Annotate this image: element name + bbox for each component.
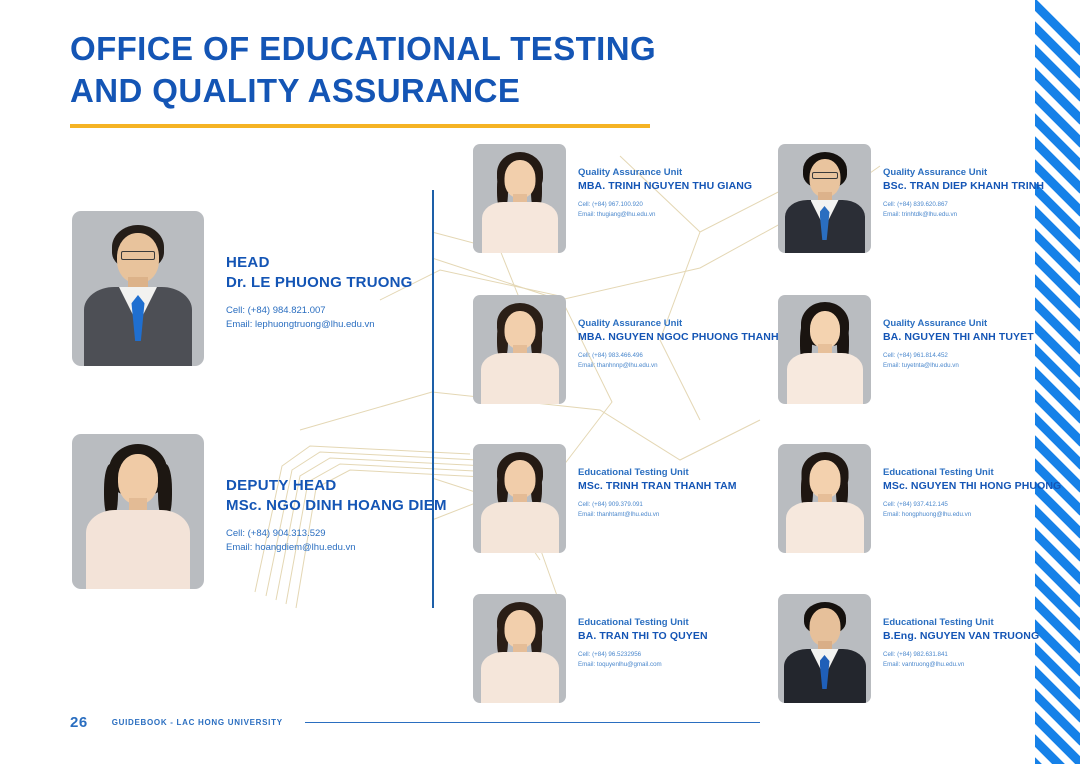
page-title-line-1: OFFICE OF EDUCATIONAL TESTING — [70, 28, 710, 70]
leader-role-deputy-head: DEPUTY HEAD — [226, 476, 447, 496]
staff-email[interactable]: Email: toquyenlhu@gmail.com — [578, 660, 708, 670]
leader-name-head: Dr. LE PHUONG TRUONG — [226, 273, 413, 293]
staff-unit: Educational Testing Unit — [883, 466, 1061, 479]
staff-photo — [473, 295, 566, 404]
staff-photo — [778, 144, 871, 253]
staff-email[interactable]: Email: tuyetnta@lhu.edu.vn — [883, 361, 1034, 371]
leader-email-head[interactable]: Email: lephuongtruong@lhu.edu.vn — [226, 318, 413, 333]
staff-cell: Cell: (+84) 839.620.867 — [883, 200, 1044, 210]
leader-card-head: HEAD Dr. LE PHUONG TRUONG Cell: (+84) 98… — [72, 211, 413, 366]
staff-photo — [778, 444, 871, 553]
staff-cell: Cell: (+84) 96.5232956 — [578, 650, 708, 660]
staff-card: Quality Assurance Unit BA. NGUYEN THI AN… — [778, 295, 1034, 404]
staff-photo — [473, 594, 566, 703]
staff-email[interactable]: Email: thanhtamt@lhu.edu.vn — [578, 510, 737, 520]
footer-label: GUIDEBOOK - LAC HONG UNIVERSITY — [112, 718, 283, 727]
staff-name: BSc. TRAN DIEP KHANH TRINH — [883, 179, 1044, 194]
staff-photo — [778, 295, 871, 404]
leader-photo-head — [72, 211, 204, 366]
staff-unit: Quality Assurance Unit — [883, 317, 1034, 330]
staff-card: Educational Testing Unit BA. TRAN THI TO… — [473, 594, 708, 703]
page-title: OFFICE OF EDUCATIONAL TESTING AND QUALIT… — [70, 28, 710, 128]
staff-cell: Cell: (+84) 937.412.145 — [883, 500, 1061, 510]
staff-unit: Quality Assurance Unit — [883, 166, 1044, 179]
staff-cell: Cell: (+84) 909.379.091 — [578, 500, 737, 510]
staff-unit: Quality Assurance Unit — [578, 317, 779, 330]
leader-card-deputy-head: DEPUTY HEAD MSc. NGO DINH HOANG DIEM Cel… — [72, 434, 447, 589]
leader-email-deputy-head[interactable]: Email: hoangdiem@lhu.edu.vn — [226, 541, 447, 556]
staff-card: Quality Assurance Unit BSc. TRAN DIEP KH… — [778, 144, 1044, 253]
staff-card: Quality Assurance Unit MBA. TRINH NGUYEN… — [473, 144, 752, 253]
staff-name: MSc. NGUYEN THI HONG PHUONG — [883, 479, 1061, 494]
staff-photo — [473, 144, 566, 253]
staff-card: Educational Testing Unit MSc. TRINH TRAN… — [473, 444, 737, 553]
title-underline — [70, 124, 650, 128]
staff-photo — [473, 444, 566, 553]
staff-photo — [778, 594, 871, 703]
staff-cell: Cell: (+84) 967.100.920 — [578, 200, 752, 210]
staff-email[interactable]: Email: hongphuong@lhu.edu.vn — [883, 510, 1061, 520]
staff-cell: Cell: (+84) 961.814.452 — [883, 351, 1034, 361]
staff-name: MSc. TRINH TRAN THANH TAM — [578, 479, 737, 494]
staff-email[interactable]: Email: trinhtdk@lhu.edu.vn — [883, 210, 1044, 220]
page-footer: 26 GUIDEBOOK - LAC HONG UNIVERSITY — [70, 714, 760, 731]
staff-unit: Educational Testing Unit — [578, 466, 737, 479]
staff-email[interactable]: Email: vantruong@lhu.edu.vn — [883, 660, 1039, 670]
staff-name: BA. TRAN THI TO QUYEN — [578, 629, 708, 644]
staff-cell: Cell: (+84) 982.631.841 — [883, 650, 1039, 660]
staff-unit: Quality Assurance Unit — [578, 166, 752, 179]
leader-name-deputy-head: MSc. NGO DINH HOANG DIEM — [226, 496, 447, 516]
leader-photo-deputy-head — [72, 434, 204, 589]
staff-name: MBA. NGUYEN NGOC PHUONG THANH — [578, 330, 779, 345]
leader-role-head: HEAD — [226, 253, 413, 273]
footer-rule — [305, 722, 760, 724]
staff-unit: Educational Testing Unit — [883, 616, 1039, 629]
staff-email[interactable]: Email: thugiang@lhu.edu.vn — [578, 210, 752, 220]
footer-page-number: 26 — [70, 714, 88, 731]
staff-cell: Cell: (+84) 983.466.496 — [578, 351, 779, 361]
leader-cell-head: Cell: (+84) 984.821.007 — [226, 304, 413, 319]
decorative-stripe-band — [1035, 0, 1080, 764]
staff-name: BA. NGUYEN THI ANH TUYET — [883, 330, 1034, 345]
staff-unit: Educational Testing Unit — [578, 616, 708, 629]
leader-cell-deputy-head: Cell: (+84) 904.313.529 — [226, 527, 447, 542]
staff-name: B.Eng. NGUYEN VAN TRUONG — [883, 629, 1039, 644]
staff-card: Educational Testing Unit MSc. NGUYEN THI… — [778, 444, 1061, 553]
staff-card: Educational Testing Unit B.Eng. NGUYEN V… — [778, 594, 1039, 703]
staff-email[interactable]: Email: thanhnnp@lhu.edu.vn — [578, 361, 779, 371]
staff-card: Quality Assurance Unit MBA. NGUYEN NGOC … — [473, 295, 779, 404]
staff-name: MBA. TRINH NGUYEN THU GIANG — [578, 179, 752, 194]
page-title-line-2: AND QUALITY ASSURANCE — [70, 70, 710, 112]
